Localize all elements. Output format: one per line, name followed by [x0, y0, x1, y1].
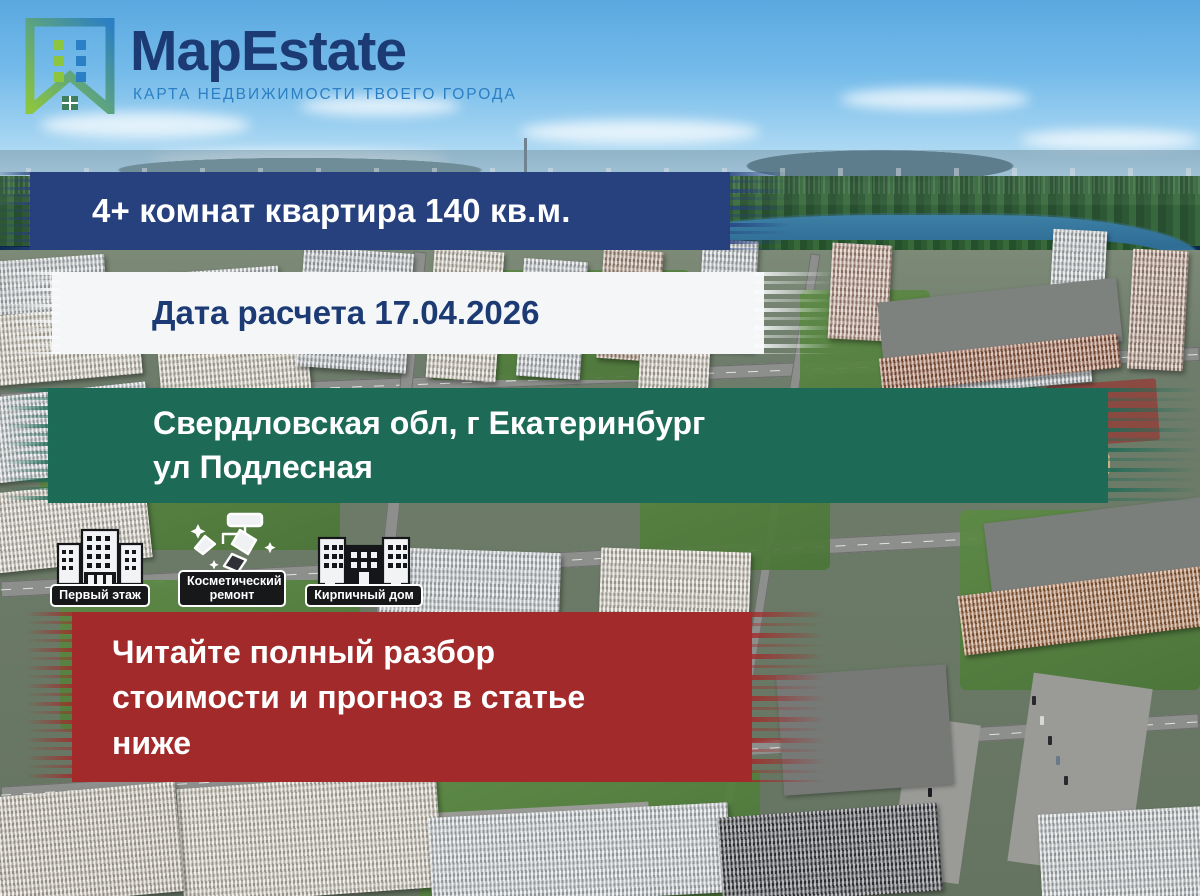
apartment-block	[428, 802, 732, 896]
calc-date-text: Дата расчета 17.04.2026	[52, 294, 539, 332]
badge-first-floor[interactable]: Первый этаж	[46, 526, 154, 606]
paint-roller-brush-icon	[184, 512, 280, 574]
address-banner: Свердловская обл, г Екатеринбург ул Подл…	[48, 388, 1108, 503]
calc-date-banner: Дата расчета 17.04.2026	[52, 272, 764, 354]
badge-label: Первый этаж	[50, 584, 150, 606]
cta-line-2: стоимости и прогноз в статье	[112, 675, 585, 720]
apartment-block	[1038, 805, 1200, 896]
car	[1056, 756, 1060, 765]
address-line-1: Свердловская обл, г Екатеринбург	[153, 402, 705, 445]
car	[1064, 776, 1068, 785]
property-banner: 4+ комнат квартира 140 кв.м.	[30, 172, 730, 250]
commercial-building	[717, 802, 943, 896]
brand-tagline: КАРТА НЕДВИЖИМОСТИ ТВОЕГО ГОРОДА	[133, 86, 517, 104]
car	[1032, 696, 1036, 705]
badge-label: Кирпичный дом	[305, 584, 422, 606]
car	[928, 788, 932, 797]
cta-line-3: ниже	[112, 721, 585, 766]
cloud	[840, 88, 1030, 110]
car	[1048, 736, 1052, 745]
cta-banner: Читайте полный разбор стоимости и прогно…	[72, 612, 752, 782]
apartment-building-icon	[54, 526, 146, 588]
brick-house-icon	[315, 526, 413, 588]
promo-card: MapEstate КАРТА НЕДВИЖИМОСТИ ТВОЕГО ГОРО…	[0, 0, 1200, 896]
bookmark-building-icon	[24, 18, 116, 114]
commercial-roof	[776, 664, 954, 796]
badge-label: Косметический ремонт	[178, 570, 286, 607]
badge-brick-house[interactable]: Кирпичный дом	[310, 526, 418, 606]
apartment-block	[176, 771, 443, 896]
apartment-block	[0, 781, 184, 896]
feature-badges: Первый этаж	[46, 512, 418, 607]
brand-logo[interactable]: MapEstate КАРТА НЕДВИЖИМОСТИ ТВОЕГО ГОРО…	[24, 18, 517, 114]
badge-cosmetic-renovation[interactable]: Косметический ремонт	[178, 512, 286, 607]
cloud	[40, 112, 250, 138]
property-text: 4+ комнат квартира 140 кв.м.	[30, 192, 571, 230]
cloud	[1020, 130, 1200, 150]
apartment-block	[1127, 249, 1189, 372]
car	[1040, 716, 1044, 725]
cloud	[520, 120, 760, 144]
brand-name: MapEstate	[130, 24, 517, 78]
cta-line-1: Читайте полный разбор	[112, 630, 585, 675]
address-line-2: ул Подлесная	[153, 446, 705, 489]
